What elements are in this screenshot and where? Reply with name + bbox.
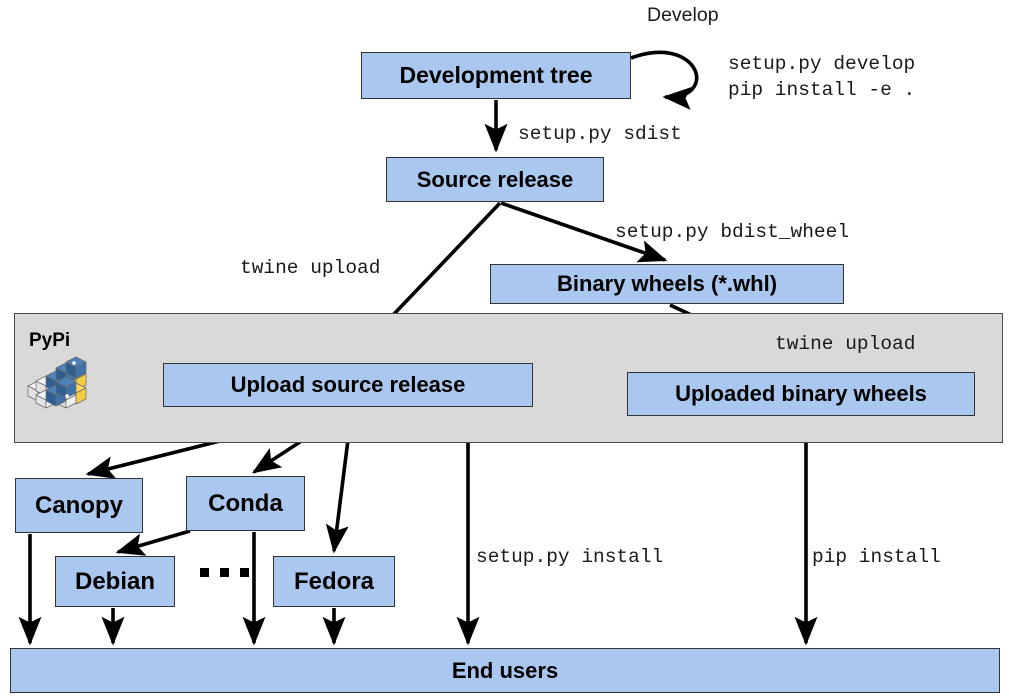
pypi-python-cubes-logo bbox=[24, 350, 96, 410]
node-fedora[interactable]: Fedora bbox=[273, 556, 395, 607]
edge-dev-self-loop bbox=[631, 52, 697, 97]
edge-label-twine-upload-binary: twine upload bbox=[775, 332, 915, 358]
ellipsis-dot bbox=[200, 568, 209, 577]
edge-label-setup-develop: setup.py develop pip install -e . bbox=[728, 52, 915, 103]
edge-label-setup-install: setup.py install bbox=[476, 545, 663, 571]
ellipsis-dot bbox=[220, 568, 229, 577]
edge-conda-to-debian bbox=[118, 531, 190, 552]
node-canopy[interactable]: Canopy bbox=[15, 478, 143, 533]
node-debian[interactable]: Debian bbox=[55, 556, 175, 607]
edge-label-setup-sdist: setup.py sdist bbox=[518, 122, 682, 148]
more-distros-ellipsis bbox=[200, 568, 249, 577]
edge-label-pip-install: pip install bbox=[812, 545, 941, 571]
node-source-release[interactable]: Source release bbox=[386, 157, 604, 202]
node-end-users[interactable]: End users bbox=[10, 648, 1000, 693]
node-conda[interactable]: Conda bbox=[186, 476, 305, 531]
node-uploaded-binary-wheels[interactable]: Uploaded binary wheels bbox=[627, 372, 975, 416]
node-binary-wheels[interactable]: Binary wheels (*.whl) bbox=[490, 264, 844, 304]
diagram-canvas: PyPi bbox=[0, 0, 1009, 698]
node-upload-source-release[interactable]: Upload source release bbox=[163, 363, 533, 407]
edge-label-develop: Develop bbox=[647, 4, 719, 27]
ellipsis-dot bbox=[240, 568, 249, 577]
pypi-panel-title: PyPi bbox=[29, 330, 70, 352]
edge-label-twine-upload-source: twine upload bbox=[240, 256, 380, 282]
node-development-tree[interactable]: Development tree bbox=[361, 52, 631, 99]
edge-label-setup-bdist-wheel: setup.py bdist_wheel bbox=[615, 220, 849, 246]
